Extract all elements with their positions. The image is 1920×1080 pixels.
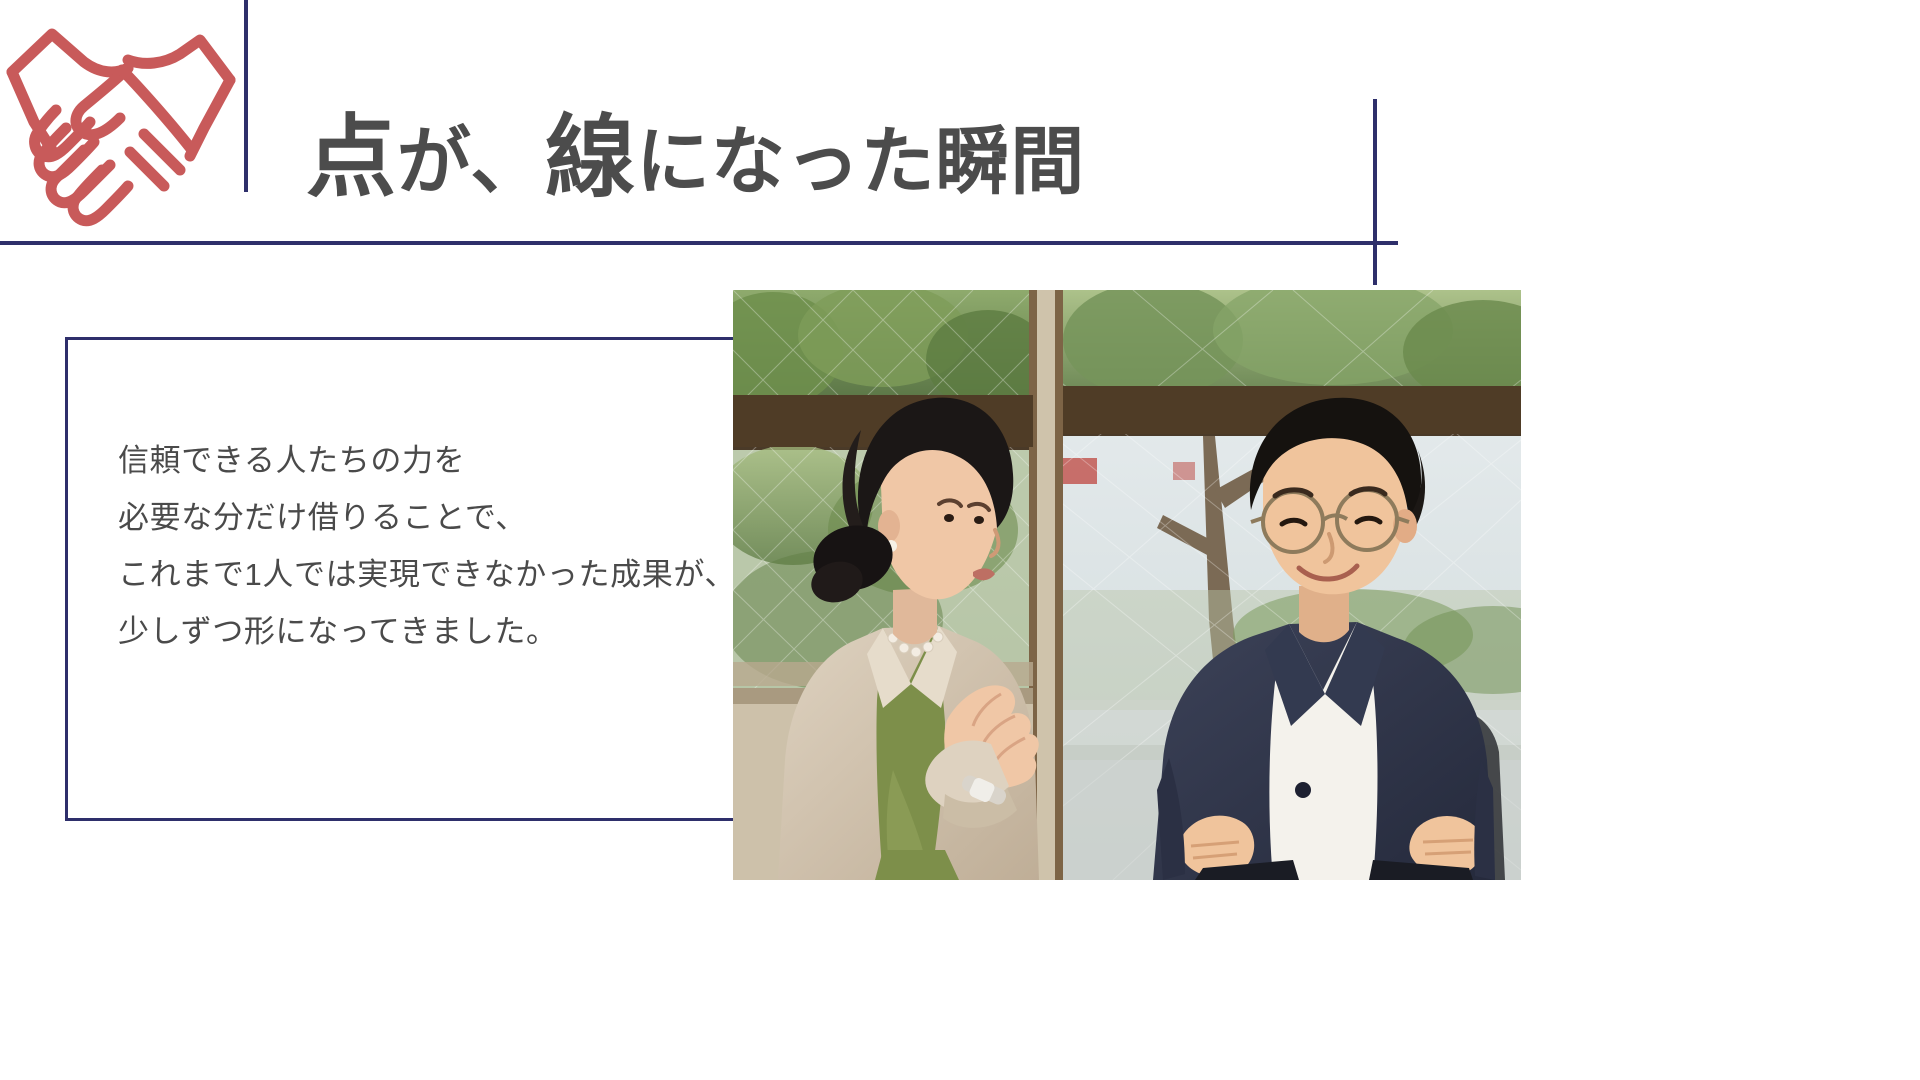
divider-horizontal-top (0, 241, 1398, 245)
body-copy-line: 信頼できる人たちの力を (118, 432, 738, 489)
divider-vertical-right (1373, 99, 1377, 285)
page-title-part-2: が、 (397, 125, 545, 199)
body-copy-line: 必要な分だけ借りることで、 (118, 489, 738, 546)
page-title-part-1: 点 (306, 113, 397, 203)
body-copy-line: 少しずつ形になってきました。 (118, 603, 738, 660)
body-copy-line: これまで1人では実現できなかった成果が、 (118, 546, 738, 603)
conversation-photo (733, 290, 1521, 880)
divider-vertical-left (244, 0, 248, 192)
page-title-part-4: になった瞬間 (636, 125, 1085, 199)
slide-canvas: 点 が、 線 になった瞬間 信頼できる人たちの力を 必要な分だけ借りることで、 … (0, 0, 1920, 1080)
page-title: 点 が、 線 になった瞬間 (306, 103, 1085, 213)
handshake-icon (4, 10, 242, 228)
page-title-part-3: 線 (545, 113, 636, 203)
body-copy: 信頼できる人たちの力を 必要な分だけ借りることで、 これまで1人では実現できなか… (118, 432, 738, 660)
